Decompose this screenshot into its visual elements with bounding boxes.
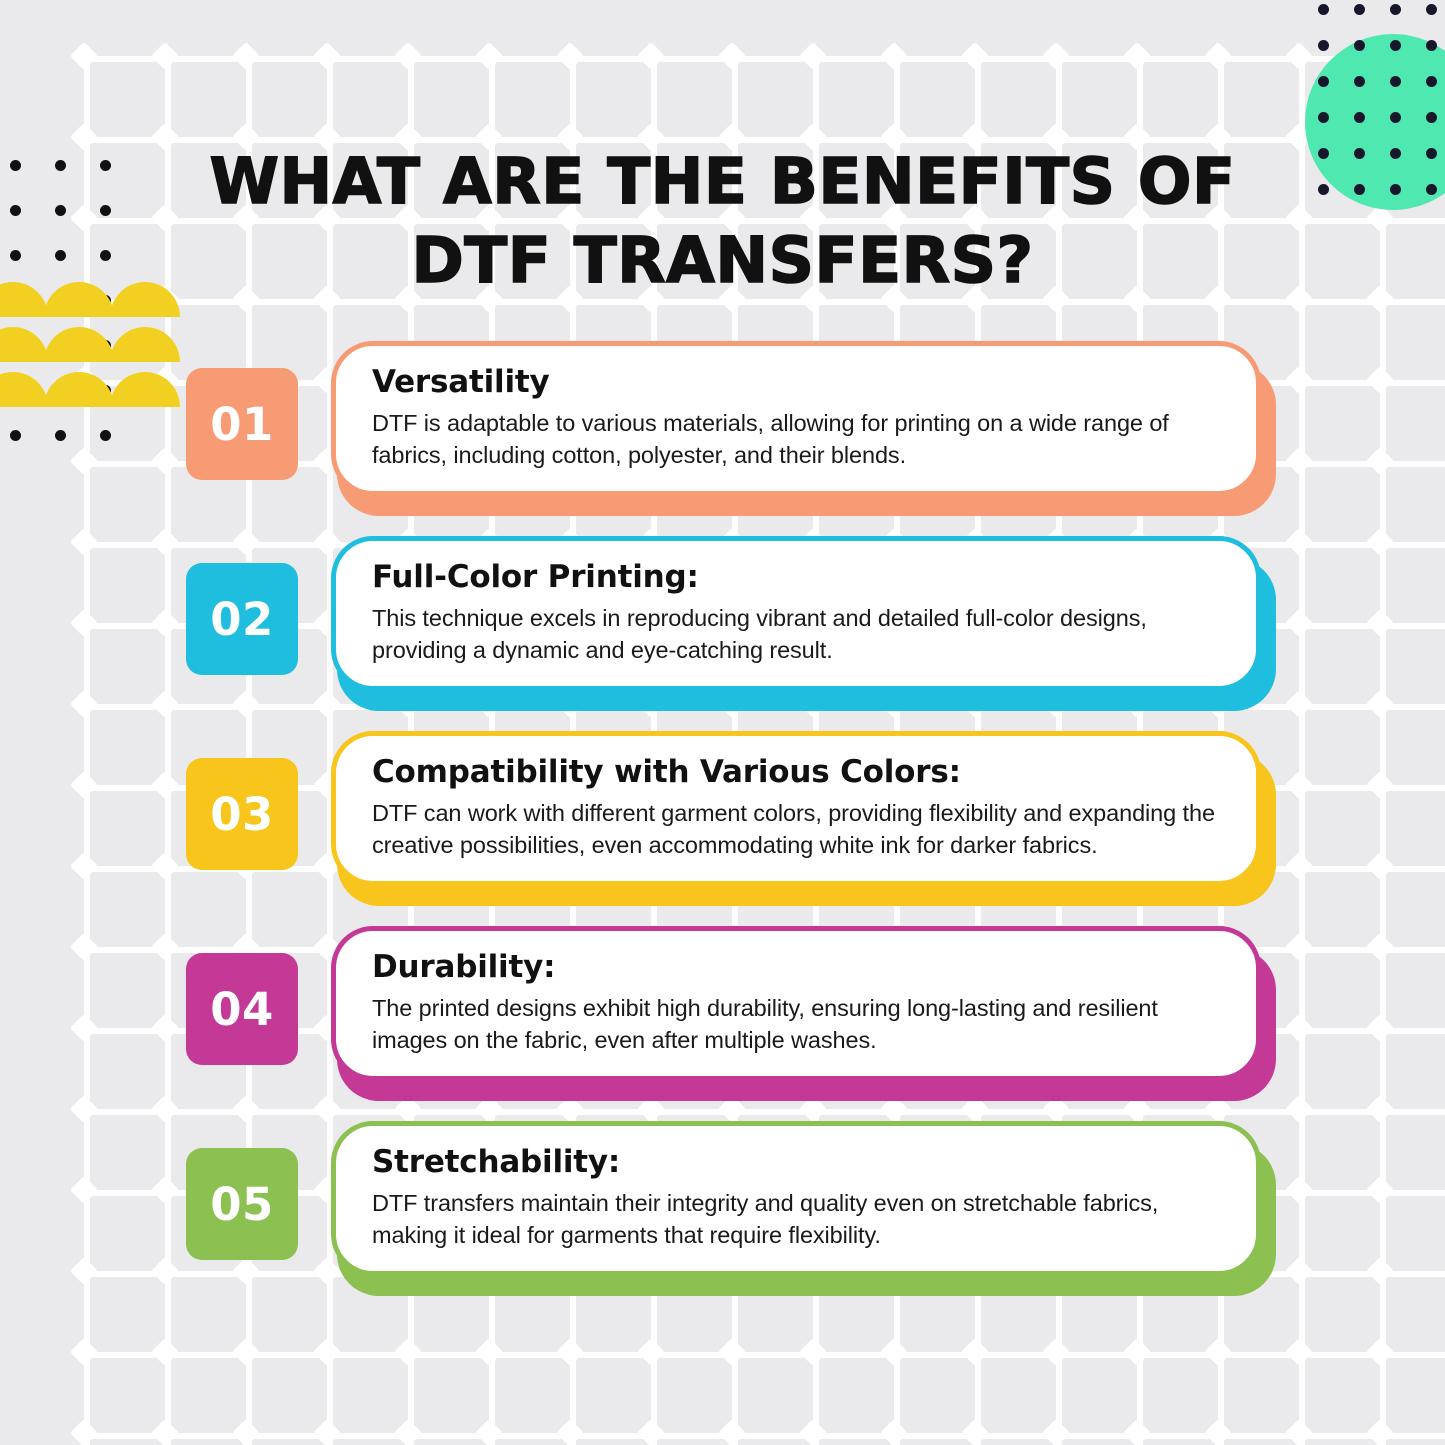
grid-diamond [799, 42, 827, 70]
benefit-description: This technique excels in reproducing vib… [372, 603, 1222, 667]
grid-diamond [151, 852, 179, 880]
grid-diamond [1366, 366, 1394, 394]
grid-diamond [1042, 1338, 1070, 1366]
decorative-dot [1354, 184, 1365, 195]
grid-diamond [1366, 1338, 1394, 1366]
grid-diamond [313, 1419, 341, 1445]
grid-diamond [637, 1419, 665, 1445]
grid-diamond [718, 1419, 746, 1445]
decorative-dot [55, 160, 66, 171]
grid-diamond [1366, 690, 1394, 718]
grid-diamond [151, 1176, 179, 1204]
decorative-half-circle [0, 282, 48, 317]
benefit-description: DTF is adaptable to various materials, a… [372, 408, 1222, 472]
decorative-dot [1426, 184, 1437, 195]
grid-diamond [1366, 1419, 1394, 1445]
grid-diamond [151, 42, 179, 70]
grid-diamond [475, 42, 503, 70]
page-title: WHAT ARE THE BENEFITS OF DTF TRANSFERS? [180, 142, 1265, 301]
benefit-number-badge: 04 [186, 953, 298, 1065]
benefit-description: The printed designs exhibit high durabil… [372, 993, 1222, 1057]
benefit-number-badge: 03 [186, 758, 298, 870]
decorative-dot [1390, 76, 1401, 87]
grid-diamond [1285, 447, 1313, 475]
grid-diamond [70, 447, 98, 475]
decorative-half-circle [44, 327, 114, 362]
decorative-half-circle [0, 372, 48, 407]
grid-diamond [151, 447, 179, 475]
decorative-dot [1426, 4, 1437, 15]
decorative-half-circle [44, 372, 114, 407]
grid-diamond [394, 1419, 422, 1445]
benefit-description: DTF can work with different garment colo… [372, 798, 1222, 862]
grid-diamond [1285, 1338, 1313, 1366]
grid-diamond [1204, 42, 1232, 70]
grid-diamond [475, 1338, 503, 1366]
decorative-dot [100, 160, 111, 171]
decorative-dot [1318, 148, 1329, 159]
grid-diamond [1366, 1176, 1394, 1204]
decorative-dot [10, 205, 21, 216]
grid-diamond [394, 1338, 422, 1366]
decorative-dot [10, 160, 21, 171]
benefit-card: VersatilityDTF is adaptable to various m… [331, 341, 1276, 516]
benefit-title: Durability: [372, 949, 1222, 986]
benefit-card-body: Full-Color Printing:This technique excel… [331, 536, 1261, 691]
grid-diamond [232, 42, 260, 70]
grid-diamond [70, 123, 98, 151]
grid-diamond [718, 1338, 746, 1366]
grid-diamond [313, 1338, 341, 1366]
grid-diamond [799, 1419, 827, 1445]
grid-diamond [70, 42, 98, 70]
decorative-dot [100, 430, 111, 441]
grid-diamond [1285, 366, 1313, 394]
grid-diamond [880, 42, 908, 70]
grid-diamond [718, 42, 746, 70]
benefit-number-badge: 01 [186, 368, 298, 480]
grid-diamond [70, 1419, 98, 1445]
decorative-half-circle [110, 327, 180, 362]
grid-diamond [1204, 1419, 1232, 1445]
grid-diamond [1366, 1095, 1394, 1123]
benefit-title: Stretchability: [372, 1144, 1222, 1181]
grid-diamond [1366, 609, 1394, 637]
decorative-half-circle [110, 282, 180, 317]
benefit-card-body: Compatibility with Various Colors:DTF ca… [331, 731, 1261, 886]
decorative-dot [1354, 40, 1365, 51]
benefit-number-badge: 02 [186, 563, 298, 675]
decorative-dot [1390, 40, 1401, 51]
decorative-dot [1390, 184, 1401, 195]
decorative-dot [1354, 148, 1365, 159]
decorative-dot [55, 250, 66, 261]
grid-diamond [961, 1419, 989, 1445]
grid-diamond [1366, 933, 1394, 961]
grid-diamond [151, 1338, 179, 1366]
benefit-card: Durability:The printed designs exhibit h… [331, 926, 1276, 1101]
decorative-dot [1318, 184, 1329, 195]
grid-diamond [70, 852, 98, 880]
benefit-card: Full-Color Printing:This technique excel… [331, 536, 1276, 711]
grid-diamond [70, 1257, 98, 1285]
grid-diamond [151, 1014, 179, 1042]
benefit-row: 05Stretchability:DTF transfers maintain … [186, 1121, 1276, 1316]
decorative-half-circle [44, 282, 114, 317]
decorative-dot [1426, 76, 1437, 87]
grid-diamond [1042, 42, 1070, 70]
grid-diamond [1285, 528, 1313, 556]
grid-diamond [1285, 1257, 1313, 1285]
grid-diamond [880, 1419, 908, 1445]
benefit-card-body: VersatilityDTF is adaptable to various m… [331, 341, 1261, 496]
grid-diamond [151, 690, 179, 718]
grid-diamond [151, 528, 179, 556]
grid-diamond [70, 528, 98, 556]
grid-diamond [1366, 852, 1394, 880]
grid-diamond [1366, 1014, 1394, 1042]
benefit-row: 01VersatilityDTF is adaptable to various… [186, 341, 1276, 536]
decorative-dot [1318, 76, 1329, 87]
decorative-dot [1354, 112, 1365, 123]
grid-diamond [70, 1014, 98, 1042]
benefit-row: 02Full-Color Printing:This technique exc… [186, 536, 1276, 731]
decorative-dot [100, 205, 111, 216]
benefit-card-body: Stretchability:DTF transfers maintain th… [331, 1121, 1261, 1276]
grid-diamond [151, 123, 179, 151]
benefit-title: Compatibility with Various Colors: [372, 754, 1222, 791]
grid-diamond [1285, 1095, 1313, 1123]
grid-diamond [1366, 771, 1394, 799]
grid-diamond [1285, 1419, 1313, 1445]
decorative-dot [1390, 148, 1401, 159]
decorative-dot [10, 250, 21, 261]
benefit-title: Versatility [372, 364, 1222, 401]
grid-diamond [556, 1419, 584, 1445]
decorative-dot [1390, 4, 1401, 15]
grid-diamond [1285, 690, 1313, 718]
grid-diamond [1285, 1014, 1313, 1042]
grid-diamond [1285, 204, 1313, 232]
grid-diamond [799, 1338, 827, 1366]
benefit-row: 03Compatibility with Various Colors:DTF … [186, 731, 1276, 926]
grid-diamond [1204, 1338, 1232, 1366]
grid-diamond [1285, 609, 1313, 637]
benefit-card: Stretchability:DTF transfers maintain th… [331, 1121, 1276, 1296]
benefit-card-body: Durability:The printed designs exhibit h… [331, 926, 1261, 1081]
benefit-row: 04Durability:The printed designs exhibit… [186, 926, 1276, 1121]
grid-diamond [1366, 528, 1394, 556]
decorative-dot [1318, 112, 1329, 123]
decorative-dot [1426, 40, 1437, 51]
benefit-number-badge: 05 [186, 1148, 298, 1260]
infographic-poster: WHAT ARE THE BENEFITS OF DTF TRANSFERS? … [0, 0, 1445, 1445]
decorative-dot [1390, 112, 1401, 123]
dot-grid-top-right-decoration [1318, 4, 1437, 195]
grid-diamond [70, 1338, 98, 1366]
grid-diamond [232, 1419, 260, 1445]
grid-diamond [151, 771, 179, 799]
decorative-half-circle [110, 372, 180, 407]
grid-diamond [232, 1338, 260, 1366]
grid-diamond [1123, 1338, 1151, 1366]
grid-diamond [637, 1338, 665, 1366]
grid-diamond [1366, 285, 1394, 313]
grid-diamond [313, 42, 341, 70]
benefit-title: Full-Color Printing: [372, 559, 1222, 596]
decorative-half-circle [0, 327, 48, 362]
grid-diamond [961, 1338, 989, 1366]
decorative-dot [100, 250, 111, 261]
grid-diamond [70, 771, 98, 799]
grid-diamond [1123, 1419, 1151, 1445]
grid-diamond [1366, 1257, 1394, 1285]
decorative-dot [55, 430, 66, 441]
grid-diamond [1285, 42, 1313, 70]
grid-diamond [70, 690, 98, 718]
grid-diamond [1042, 1419, 1070, 1445]
decorative-dot [1318, 40, 1329, 51]
grid-diamond [556, 42, 584, 70]
decorative-dot [1354, 76, 1365, 87]
grid-diamond [151, 1257, 179, 1285]
grid-diamond [70, 933, 98, 961]
decorative-dot [1354, 4, 1365, 15]
benefit-description: DTF transfers maintain their integrity a… [372, 1188, 1222, 1252]
grid-diamond [151, 609, 179, 637]
grid-diamond [880, 1338, 908, 1366]
grid-diamond [1285, 933, 1313, 961]
grid-diamond [151, 1095, 179, 1123]
decorative-dot [10, 430, 21, 441]
decorative-dot [1318, 4, 1329, 15]
grid-diamond [151, 1419, 179, 1445]
decorative-dot [55, 205, 66, 216]
grid-diamond [961, 42, 989, 70]
grid-diamond [475, 1419, 503, 1445]
grid-diamond [1285, 1176, 1313, 1204]
benefit-card: Compatibility with Various Colors:DTF ca… [331, 731, 1276, 906]
grid-diamond [70, 1176, 98, 1204]
grid-diamond [637, 42, 665, 70]
grid-diamond [70, 609, 98, 637]
grid-diamond [1285, 285, 1313, 313]
grid-diamond [1123, 42, 1151, 70]
benefits-list: 01VersatilityDTF is adaptable to various… [186, 341, 1276, 1316]
grid-diamond [394, 42, 422, 70]
grid-diamond [1366, 447, 1394, 475]
grid-diamond [70, 1095, 98, 1123]
grid-diamond [1285, 852, 1313, 880]
decorative-dot [1426, 112, 1437, 123]
decorative-dot [1426, 148, 1437, 159]
grid-diamond [151, 204, 179, 232]
half-circle-pattern-decoration [0, 282, 176, 417]
grid-diamond [151, 933, 179, 961]
grid-diamond [1285, 771, 1313, 799]
grid-diamond [556, 1338, 584, 1366]
